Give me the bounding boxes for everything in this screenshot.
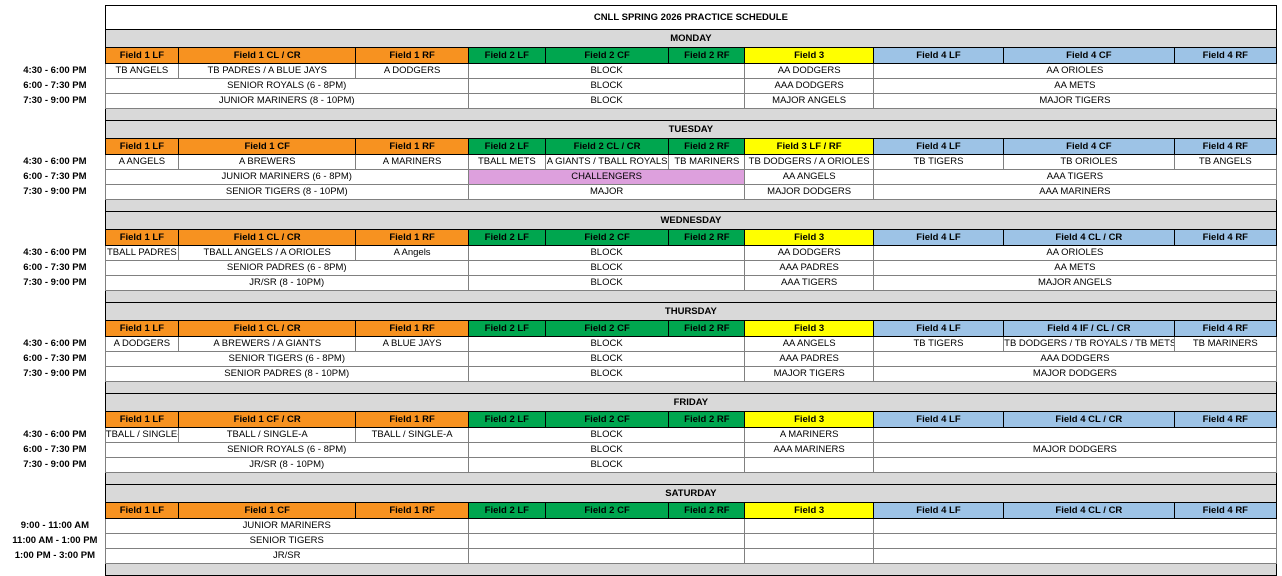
time-label-friday-2: 7:30 - 9:00 PM [5,458,105,473]
time-label-thursday-0: 4:30 - 6:00 PM [5,337,105,352]
table-row: 7:30 - 9:00 PMJR/SR (8 - 10PM)BLOCK [5,458,1277,473]
schedule-cell-tuesday-0-4[interactable]: A GIANTS / TBALL ROYALS [545,155,668,170]
schedule-cell-saturday-2-2[interactable] [745,549,873,564]
field-header-monday-0: Field 1 LF [105,48,178,64]
time-label-saturday-2: 1:00 PM - 3:00 PM [5,549,105,564]
schedule-cell-saturday-0-2[interactable] [745,519,873,534]
schedule-cell-wednesday-0-1[interactable]: TBALL ANGELS / A ORIOLES [178,246,355,261]
schedule-cell-tuesday-1-3[interactable]: AAA TIGERS [873,170,1276,185]
schedule-cell-monday-0-3[interactable]: BLOCK [468,64,745,79]
schedule-cell-thursday-0-0[interactable]: A DODGERS [105,337,178,352]
field-header-friday-7: Field 4 LF [873,412,1003,428]
schedule-cell-wednesday-2-3[interactable]: MAJOR ANGELS [873,276,1276,291]
schedule-cell-wednesday-2-1[interactable]: BLOCK [468,276,745,291]
field-header-tuesday-8: Field 4 CF [1004,139,1174,155]
table-row: 4:30 - 6:00 PMA DODGERSA BREWERS / A GIA… [5,337,1277,352]
field-header-friday-5: Field 2 RF [669,412,745,428]
schedule-cell-tuesday-0-1[interactable]: A BREWERS [178,155,355,170]
day-spacer [5,303,105,321]
field-header-wednesday-1: Field 1 CL / CR [178,230,355,246]
field-header-thursday-3: Field 2 LF [468,321,545,337]
schedule-cell-friday-0-2[interactable]: TBALL / SINGLE-A [356,428,468,443]
schedule-cell-friday-2-1[interactable]: BLOCK [468,458,745,473]
schedule-cell-saturday-1-0[interactable]: SENIOR TIGERS [105,534,468,549]
time-label-monday-2: 7:30 - 9:00 PM [5,94,105,109]
schedule-cell-saturday-1-1[interactable] [468,534,745,549]
table-row: 7:30 - 9:00 PMSENIOR TIGERS (8 - 10PM)MA… [5,185,1277,200]
time-label-monday-0: 4:30 - 6:00 PM [5,64,105,79]
gap-spacer [5,291,105,303]
table-row: 6:00 - 7:30 PMSENIOR ROYALS (6 - 8PM)BLO… [5,79,1277,94]
page-title: CNLL SPRING 2026 PRACTICE SCHEDULE [105,6,1276,30]
schedule-cell-thursday-0-7[interactable]: TB MARINERS [1174,337,1276,352]
schedule-body: CNLL SPRING 2026 PRACTICE SCHEDULEMONDAY… [5,6,1277,576]
schedule-cell-thursday-2-1[interactable]: BLOCK [468,367,745,382]
schedule-cell-saturday-0-3[interactable] [873,519,1276,534]
field-header-monday-7: Field 4 LF [873,48,1003,64]
field-header-tuesday-1: Field 1 CF [178,139,355,155]
table-row: 7:30 - 9:00 PMJR/SR (8 - 10PM)BLOCKAAA T… [5,276,1277,291]
section-spacer-row [5,291,1277,303]
schedule-cell-wednesday-2-2[interactable]: AAA TIGERS [745,276,873,291]
schedule-cell-friday-1-3[interactable]: MAJOR DODGERS [873,443,1276,458]
schedule-cell-tuesday-0-2[interactable]: A MARINERS [356,155,468,170]
schedule-cell-wednesday-1-2[interactable]: AAA PADRES [745,261,873,276]
day-name-tuesday: TUESDAY [105,121,1276,139]
field-header-saturday-9: Field 4 RF [1174,503,1276,519]
field-header-saturday-2: Field 1 RF [356,503,468,519]
day-spacer [5,121,105,139]
schedule-cell-friday-1-1[interactable]: BLOCK [468,443,745,458]
field-header-thursday-1: Field 1 CL / CR [178,321,355,337]
field-header-thursday-5: Field 2 RF [669,321,745,337]
field-header-wednesday-0: Field 1 LF [105,230,178,246]
field-header-saturday-0: Field 1 LF [105,503,178,519]
section-spacer-row [5,200,1277,212]
field-header-thursday-8: Field 4 IF / CL / CR [1004,321,1174,337]
schedule-cell-friday-1-2[interactable]: AAA MARINERS [745,443,873,458]
schedule-cell-tuesday-2-1[interactable]: MAJOR [468,185,745,200]
field-header-monday-1: Field 1 CL / CR [178,48,355,64]
field-header-tuesday-6: Field 3 LF / RF [745,139,873,155]
schedule-cell-friday-1-0[interactable]: SENIOR ROYALS (6 - 8PM) [105,443,468,458]
schedule-cell-saturday-0-0[interactable]: JUNIOR MARINERS [105,519,468,534]
schedule-cell-wednesday-0-0[interactable]: TBALL PADRES [105,246,178,261]
section-spacer-row [5,564,1277,576]
field-header-wednesday-7: Field 4 LF [873,230,1003,246]
table-row: 4:30 - 6:00 PMTB ANGELSTB PADRES / A BLU… [5,64,1277,79]
time-column-spacer [5,321,105,337]
schedule-cell-monday-2-0[interactable]: JUNIOR MARINERS (8 - 10PM) [105,94,468,109]
schedule-cell-friday-2-2[interactable] [745,458,873,473]
field-header-saturday-6: Field 3 [745,503,873,519]
gap-spacer [5,473,105,485]
time-column-spacer [5,412,105,428]
field-header-thursday-7: Field 4 LF [873,321,1003,337]
gap-spacer [5,564,105,576]
schedule-cell-thursday-1-0[interactable]: SENIOR TIGERS (6 - 8PM) [105,352,468,367]
schedule-cell-saturday-2-0[interactable]: JR/SR [105,549,468,564]
field-header-tuesday-2: Field 1 RF [356,139,468,155]
schedule-cell-saturday-1-3[interactable] [873,534,1276,549]
schedule-cell-friday-2-0[interactable]: JR/SR (8 - 10PM) [105,458,468,473]
schedule-cell-wednesday-1-0[interactable]: SENIOR PADRES (6 - 8PM) [105,261,468,276]
day-name-friday: FRIDAY [105,394,1276,412]
schedule-cell-friday-2-3[interactable] [873,458,1276,473]
field-header-thursday-0: Field 1 LF [105,321,178,337]
schedule-cell-tuesday-2-3[interactable]: AAA MARINERS [873,185,1276,200]
day-banner-row: FRIDAY [5,394,1277,412]
field-header-saturday-3: Field 2 LF [468,503,545,519]
schedule-cell-friday-0-4[interactable]: A MARINERS [745,428,873,443]
field-header-friday-0: Field 1 LF [105,412,178,428]
day-banner-row: WEDNESDAY [5,212,1277,230]
schedule-cell-monday-0-4[interactable]: AA DODGERS [745,64,873,79]
schedule-cell-wednesday-0-4[interactable]: AA DODGERS [745,246,873,261]
schedule-cell-wednesday-2-0[interactable]: JR/SR (8 - 10PM) [105,276,468,291]
time-label-friday-1: 6:00 - 7:30 PM [5,443,105,458]
field-header-monday-5: Field 2 RF [669,48,745,64]
schedule-cell-thursday-0-1[interactable]: A BREWERS / A GIANTS [178,337,355,352]
table-row: 1:00 PM - 3:00 PMJR/SR [5,549,1277,564]
field-header-friday-3: Field 2 LF [468,412,545,428]
day-banner-row: MONDAY [5,30,1277,48]
schedule-cell-saturday-0-1[interactable] [468,519,745,534]
field-header-row: Field 1 LFField 1 CFField 1 RFField 2 LF… [5,503,1277,519]
table-row: 6:00 - 7:30 PMSENIOR ROYALS (6 - 8PM)BLO… [5,443,1277,458]
day-name-wednesday: WEDNESDAY [105,212,1276,230]
schedule-cell-monday-1-2[interactable]: AAA DODGERS [745,79,873,94]
schedule-cell-thursday-2-2[interactable]: MAJOR TIGERS [745,367,873,382]
schedule-cell-tuesday-0-9[interactable]: TB ANGELS [1174,155,1276,170]
field-header-wednesday-2: Field 1 RF [356,230,468,246]
schedule-cell-saturday-1-2[interactable] [745,534,873,549]
time-label-tuesday-0: 4:30 - 6:00 PM [5,155,105,170]
day-name-thursday: THURSDAY [105,303,1276,321]
field-header-thursday-9: Field 4 RF [1174,321,1276,337]
schedule-cell-friday-0-3[interactable]: BLOCK [468,428,745,443]
time-column-spacer [5,48,105,64]
table-row: 11:00 AM - 1:00 PMSENIOR TIGERS [5,534,1277,549]
schedule-cell-thursday-0-4[interactable]: AA ANGELS [745,337,873,352]
table-row: 6:00 - 7:30 PMSENIOR PADRES (6 - 8PM)BLO… [5,261,1277,276]
field-header-tuesday-5: Field 2 RF [669,139,745,155]
time-column-spacer [5,139,105,155]
title-row: CNLL SPRING 2026 PRACTICE SCHEDULE [5,6,1277,30]
field-header-saturday-5: Field 2 RF [669,503,745,519]
schedule-cell-friday-0-5[interactable] [873,428,1276,443]
field-header-row: Field 1 LFField 1 CF / CRField 1 RFField… [5,412,1277,428]
gap-banner [105,200,1276,212]
field-header-friday-9: Field 4 RF [1174,412,1276,428]
schedule-cell-tuesday-1-2[interactable]: AA ANGELS [745,170,873,185]
field-header-monday-6: Field 3 [745,48,873,64]
field-header-friday-2: Field 1 RF [356,412,468,428]
schedule-cell-monday-2-3[interactable]: MAJOR TIGERS [873,94,1276,109]
schedule-cell-thursday-2-0[interactable]: SENIOR PADRES (8 - 10PM) [105,367,468,382]
schedule-cell-monday-2-2[interactable]: MAJOR ANGELS [745,94,873,109]
time-label-saturday-0: 9:00 - 11:00 AM [5,519,105,534]
table-row: 4:30 - 6:00 PMTBALL PADRESTBALL ANGELS /… [5,246,1277,261]
schedule-cell-wednesday-0-2[interactable]: A Angels [356,246,468,261]
field-header-tuesday-3: Field 2 LF [468,139,545,155]
table-row: 6:00 - 7:30 PMJUNIOR MARINERS (6 - 8PM)C… [5,170,1277,185]
gap-spacer [5,382,105,394]
schedule-cell-wednesday-0-5[interactable]: AA ORIOLES [873,246,1276,261]
field-header-monday-4: Field 2 CF [545,48,668,64]
field-header-friday-4: Field 2 CF [545,412,668,428]
time-label-monday-1: 6:00 - 7:30 PM [5,79,105,94]
schedule-cell-tuesday-0-3[interactable]: TBALL METS [468,155,545,170]
day-banner-row: SATURDAY [5,485,1277,503]
field-header-friday-6: Field 3 [745,412,873,428]
schedule-cell-tuesday-0-7[interactable]: TB TIGERS [873,155,1003,170]
field-header-thursday-4: Field 2 CF [545,321,668,337]
day-name-saturday: SATURDAY [105,485,1276,503]
time-column-spacer [5,230,105,246]
schedule-cell-thursday-1-1[interactable]: BLOCK [468,352,745,367]
field-header-tuesday-0: Field 1 LF [105,139,178,155]
schedule-cell-monday-0-2[interactable]: A DODGERS [356,64,468,79]
day-spacer [5,212,105,230]
schedule-cell-monday-2-1[interactable]: BLOCK [468,94,745,109]
field-header-monday-9: Field 4 RF [1174,48,1276,64]
schedule-cell-monday-1-1[interactable]: BLOCK [468,79,745,94]
schedule-cell-thursday-2-3[interactable]: MAJOR DODGERS [873,367,1276,382]
gap-spacer [5,109,105,121]
field-header-row: Field 1 LFField 1 CFField 1 RFField 2 LF… [5,139,1277,155]
field-header-friday-8: Field 4 CL / CR [1004,412,1174,428]
schedule-cell-thursday-0-6[interactable]: TB DODGERS / TB ROYALS / TB METS [1004,337,1174,352]
field-header-saturday-8: Field 4 CL / CR [1004,503,1174,519]
field-header-thursday-2: Field 1 RF [356,321,468,337]
schedule-cell-tuesday-1-1[interactable]: CHALLENGERS [468,170,745,185]
day-banner-row: THURSDAY [5,303,1277,321]
gap-banner [105,109,1276,121]
schedule-cell-tuesday-0-8[interactable]: TB ORIOLES [1004,155,1174,170]
schedule-cell-wednesday-0-3[interactable]: BLOCK [468,246,745,261]
schedule-cell-tuesday-2-0[interactable]: SENIOR TIGERS (8 - 10PM) [105,185,468,200]
field-header-row: Field 1 LFField 1 CL / CRField 1 RFField… [5,230,1277,246]
time-label-saturday-1: 11:00 AM - 1:00 PM [5,534,105,549]
section-spacer-row [5,382,1277,394]
schedule-cell-thursday-0-5[interactable]: TB TIGERS [873,337,1003,352]
field-header-row: Field 1 LFField 1 CL / CRField 1 RFField… [5,321,1277,337]
schedule-cell-thursday-1-3[interactable]: AAA DODGERS [873,352,1276,367]
field-header-wednesday-4: Field 2 CF [545,230,668,246]
schedule-cell-monday-0-0[interactable]: TB ANGELS [105,64,178,79]
section-spacer-row [5,109,1277,121]
field-header-thursday-6: Field 3 [745,321,873,337]
schedule-cell-monday-1-0[interactable]: SENIOR ROYALS (6 - 8PM) [105,79,468,94]
field-header-wednesday-9: Field 4 RF [1174,230,1276,246]
field-header-saturday-1: Field 1 CF [178,503,355,519]
time-label-wednesday-2: 7:30 - 9:00 PM [5,276,105,291]
time-label-tuesday-2: 7:30 - 9:00 PM [5,185,105,200]
time-label-tuesday-1: 6:00 - 7:30 PM [5,170,105,185]
schedule-cell-friday-0-1[interactable]: TBALL / SINGLE-A [178,428,355,443]
table-row: 7:30 - 9:00 PMJUNIOR MARINERS (8 - 10PM)… [5,94,1277,109]
day-banner-row: TUESDAY [5,121,1277,139]
gap-spacer [5,200,105,212]
field-header-friday-1: Field 1 CF / CR [178,412,355,428]
table-row: 7:30 - 9:00 PMSENIOR PADRES (8 - 10PM)BL… [5,367,1277,382]
field-header-wednesday-5: Field 2 RF [669,230,745,246]
time-column-spacer [5,503,105,519]
schedule-cell-friday-0-0[interactable]: TBALL / SINGLE-A [105,428,178,443]
table-row: 4:30 - 6:00 PMA ANGELSA BREWERSA MARINER… [5,155,1277,170]
day-spacer [5,394,105,412]
gap-banner [105,473,1276,485]
field-header-wednesday-8: Field 4 CL / CR [1004,230,1174,246]
time-label-wednesday-0: 4:30 - 6:00 PM [5,246,105,261]
practice-schedule-sheet: CNLL SPRING 2026 PRACTICE SCHEDULEMONDAY… [0,5,1282,515]
schedule-cell-thursday-1-2[interactable]: AAA PADRES [745,352,873,367]
day-spacer [5,485,105,503]
field-header-monday-2: Field 1 RF [356,48,468,64]
gap-banner [105,382,1276,394]
field-header-wednesday-3: Field 2 LF [468,230,545,246]
schedule-cell-tuesday-0-5[interactable]: TB MARINERS [669,155,745,170]
field-header-tuesday-7: Field 4 LF [873,139,1003,155]
schedule-cell-tuesday-0-0[interactable]: A ANGELS [105,155,178,170]
schedule-cell-wednesday-1-1[interactable]: BLOCK [468,261,745,276]
schedule-cell-monday-0-5[interactable]: AA ORIOLES [873,64,1276,79]
schedule-cell-tuesday-0-6[interactable]: TB DODGERS / A ORIOLES [745,155,873,170]
field-header-tuesday-9: Field 4 RF [1174,139,1276,155]
field-header-saturday-4: Field 2 CF [545,503,668,519]
gap-banner [105,291,1276,303]
schedule-cell-thursday-0-2[interactable]: A BLUE JAYS [356,337,468,352]
time-label-thursday-1: 6:00 - 7:30 PM [5,352,105,367]
schedule-cell-wednesday-1-3[interactable]: AA METS [873,261,1276,276]
schedule-cell-tuesday-2-2[interactable]: MAJOR DODGERS [745,185,873,200]
schedule-cell-thursday-0-3[interactable]: BLOCK [468,337,745,352]
day-name-monday: MONDAY [105,30,1276,48]
table-row: 6:00 - 7:30 PMSENIOR TIGERS (6 - 8PM)BLO… [5,352,1277,367]
gap-banner [105,564,1276,576]
field-header-monday-3: Field 2 LF [468,48,545,64]
table-row: 4:30 - 6:00 PMTBALL / SINGLE-ATBALL / SI… [5,428,1277,443]
schedule-cell-tuesday-1-0[interactable]: JUNIOR MARINERS (6 - 8PM) [105,170,468,185]
field-header-tuesday-4: Field 2 CL / CR [545,139,668,155]
section-spacer-row [5,473,1277,485]
table-row: 9:00 - 11:00 AMJUNIOR MARINERS [5,519,1277,534]
time-label-thursday-2: 7:30 - 9:00 PM [5,367,105,382]
schedule-cell-monday-1-3[interactable]: AA METS [873,79,1276,94]
schedule-cell-saturday-2-1[interactable] [468,549,745,564]
schedule-table: CNLL SPRING 2026 PRACTICE SCHEDULEMONDAY… [5,5,1277,576]
schedule-cell-saturday-2-3[interactable] [873,549,1276,564]
field-header-row: Field 1 LFField 1 CL / CRField 1 RFField… [5,48,1277,64]
schedule-cell-monday-0-1[interactable]: TB PADRES / A BLUE JAYS [178,64,355,79]
field-header-wednesday-6: Field 3 [745,230,873,246]
time-label-friday-0: 4:30 - 6:00 PM [5,428,105,443]
field-header-monday-8: Field 4 CF [1004,48,1174,64]
day-spacer [5,30,105,48]
title-spacer [5,6,105,30]
time-label-wednesday-1: 6:00 - 7:30 PM [5,261,105,276]
field-header-saturday-7: Field 4 LF [873,503,1003,519]
